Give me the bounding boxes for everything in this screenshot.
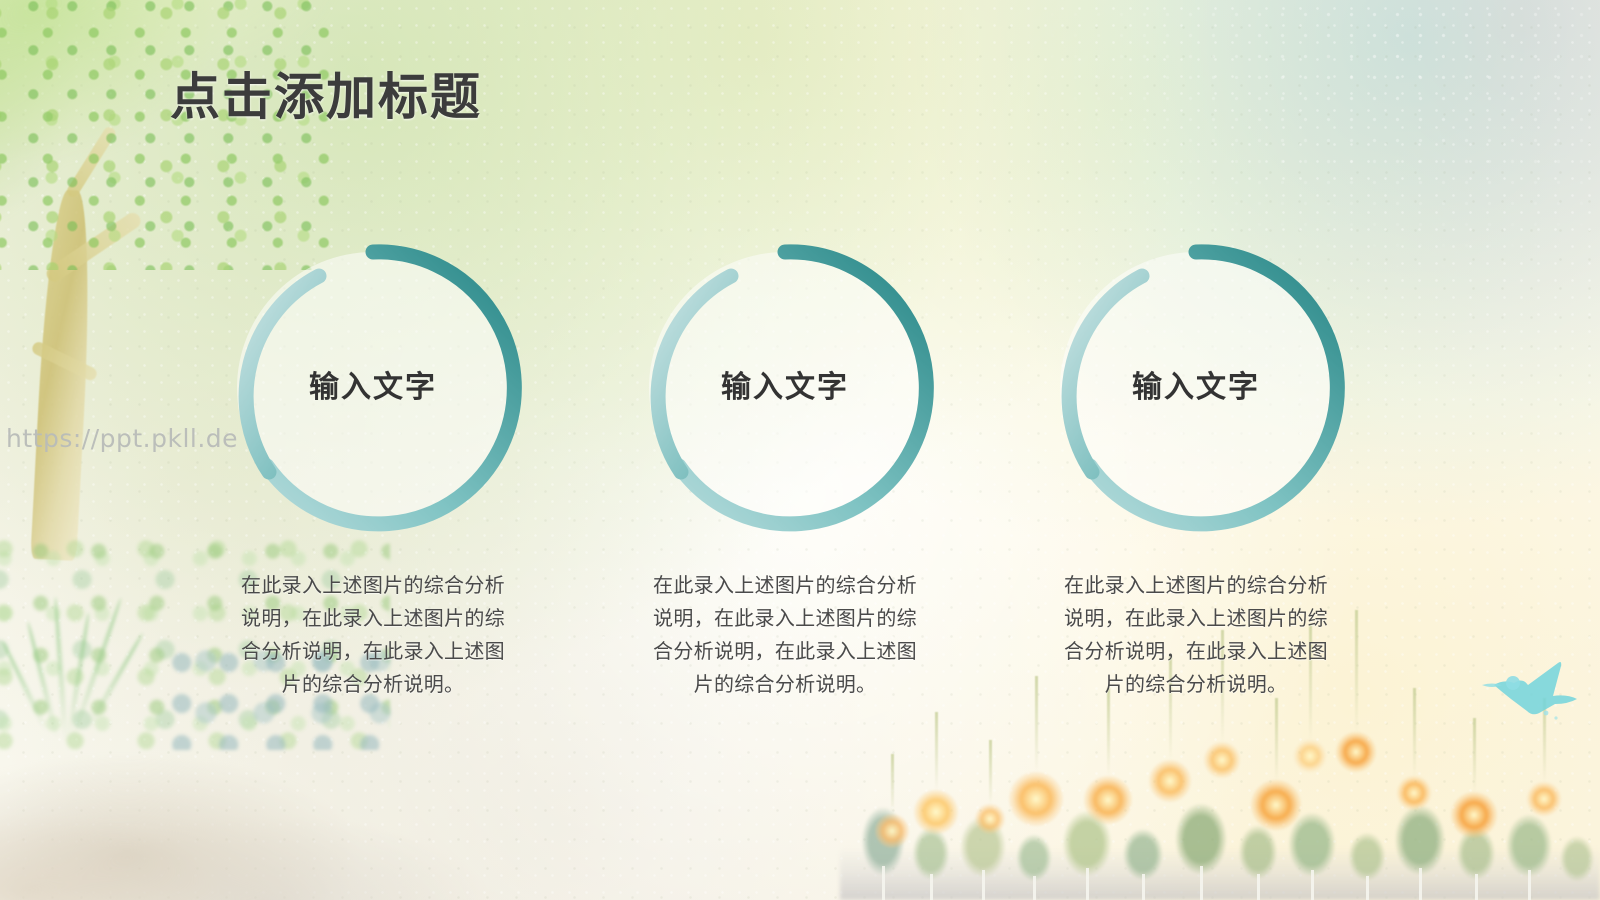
content-columns: 输入文字 在此录入上述图片的综合分析说明，在此录入上述图片的综合分析说明，在此录…: [0, 0, 1600, 900]
column-2: 输入文字 在此录入上述图片的综合分析说明，在此录入上述图片的综合分析说明，在此录…: [575, 236, 995, 702]
circle-label-1: 输入文字: [223, 362, 523, 406]
column-description-1: 在此录入上述图片的综合分析说明，在此录入上述图片的综合分析说明，在此录入上述图片…: [233, 570, 513, 702]
circle-label-2: 输入文字: [635, 362, 935, 406]
slide-canvas: 点击添加标题 https://ppt.pkll.de: [0, 0, 1600, 900]
circle-badge-3[interactable]: 输入文字: [1046, 236, 1346, 536]
column-1: 输入文字 在此录入上述图片的综合分析说明，在此录入上述图片的综合分析说明，在此录…: [163, 236, 583, 702]
circle-badge-1[interactable]: 输入文字: [223, 236, 523, 536]
column-description-2: 在此录入上述图片的综合分析说明，在此录入上述图片的综合分析说明，在此录入上述图片…: [645, 570, 925, 702]
column-3: 输入文字 在此录入上述图片的综合分析说明，在此录入上述图片的综合分析说明，在此录…: [986, 236, 1406, 702]
circle-badge-2[interactable]: 输入文字: [635, 236, 935, 536]
circle-label-3: 输入文字: [1046, 362, 1346, 406]
column-description-3: 在此录入上述图片的综合分析说明，在此录入上述图片的综合分析说明，在此录入上述图片…: [1056, 570, 1336, 702]
